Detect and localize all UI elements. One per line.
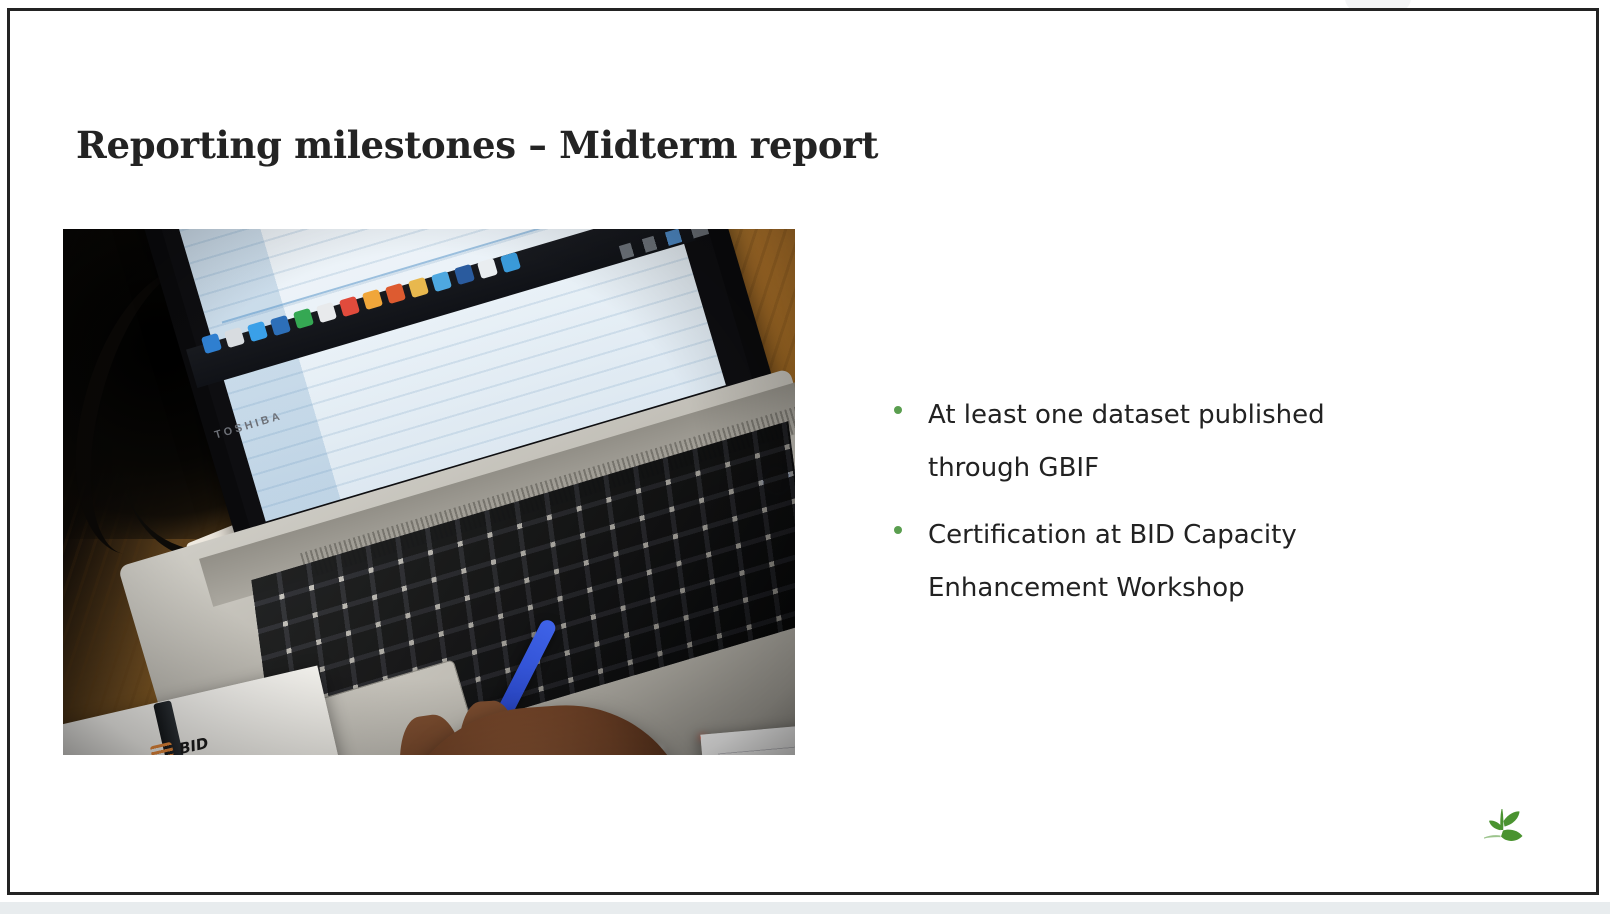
bullet-list: At least one dataset published through G…	[894, 389, 1434, 629]
viewer-bottom-strip	[0, 902, 1610, 914]
gbif-sprout-leaf-icon	[1476, 803, 1530, 851]
bullet-text: At least one dataset published through G…	[928, 389, 1358, 495]
slide-photo: SAnG TOSHIBA	[63, 229, 795, 755]
slide-viewer: Reporting milestones – Midterm report SA…	[0, 0, 1610, 914]
bullet-dot-icon	[894, 526, 902, 534]
bullet-dot-icon	[894, 406, 902, 414]
list-item: Certification at BID Capacity Enhancemen…	[894, 509, 1434, 615]
presentation-slide: Reporting milestones – Midterm report SA…	[7, 8, 1599, 895]
page-title: Reporting milestones – Midterm report	[76, 123, 878, 167]
photo-vignette	[63, 229, 795, 755]
list-item: At least one dataset published through G…	[894, 389, 1434, 495]
bullet-text: Certification at BID Capacity Enhancemen…	[928, 509, 1358, 615]
